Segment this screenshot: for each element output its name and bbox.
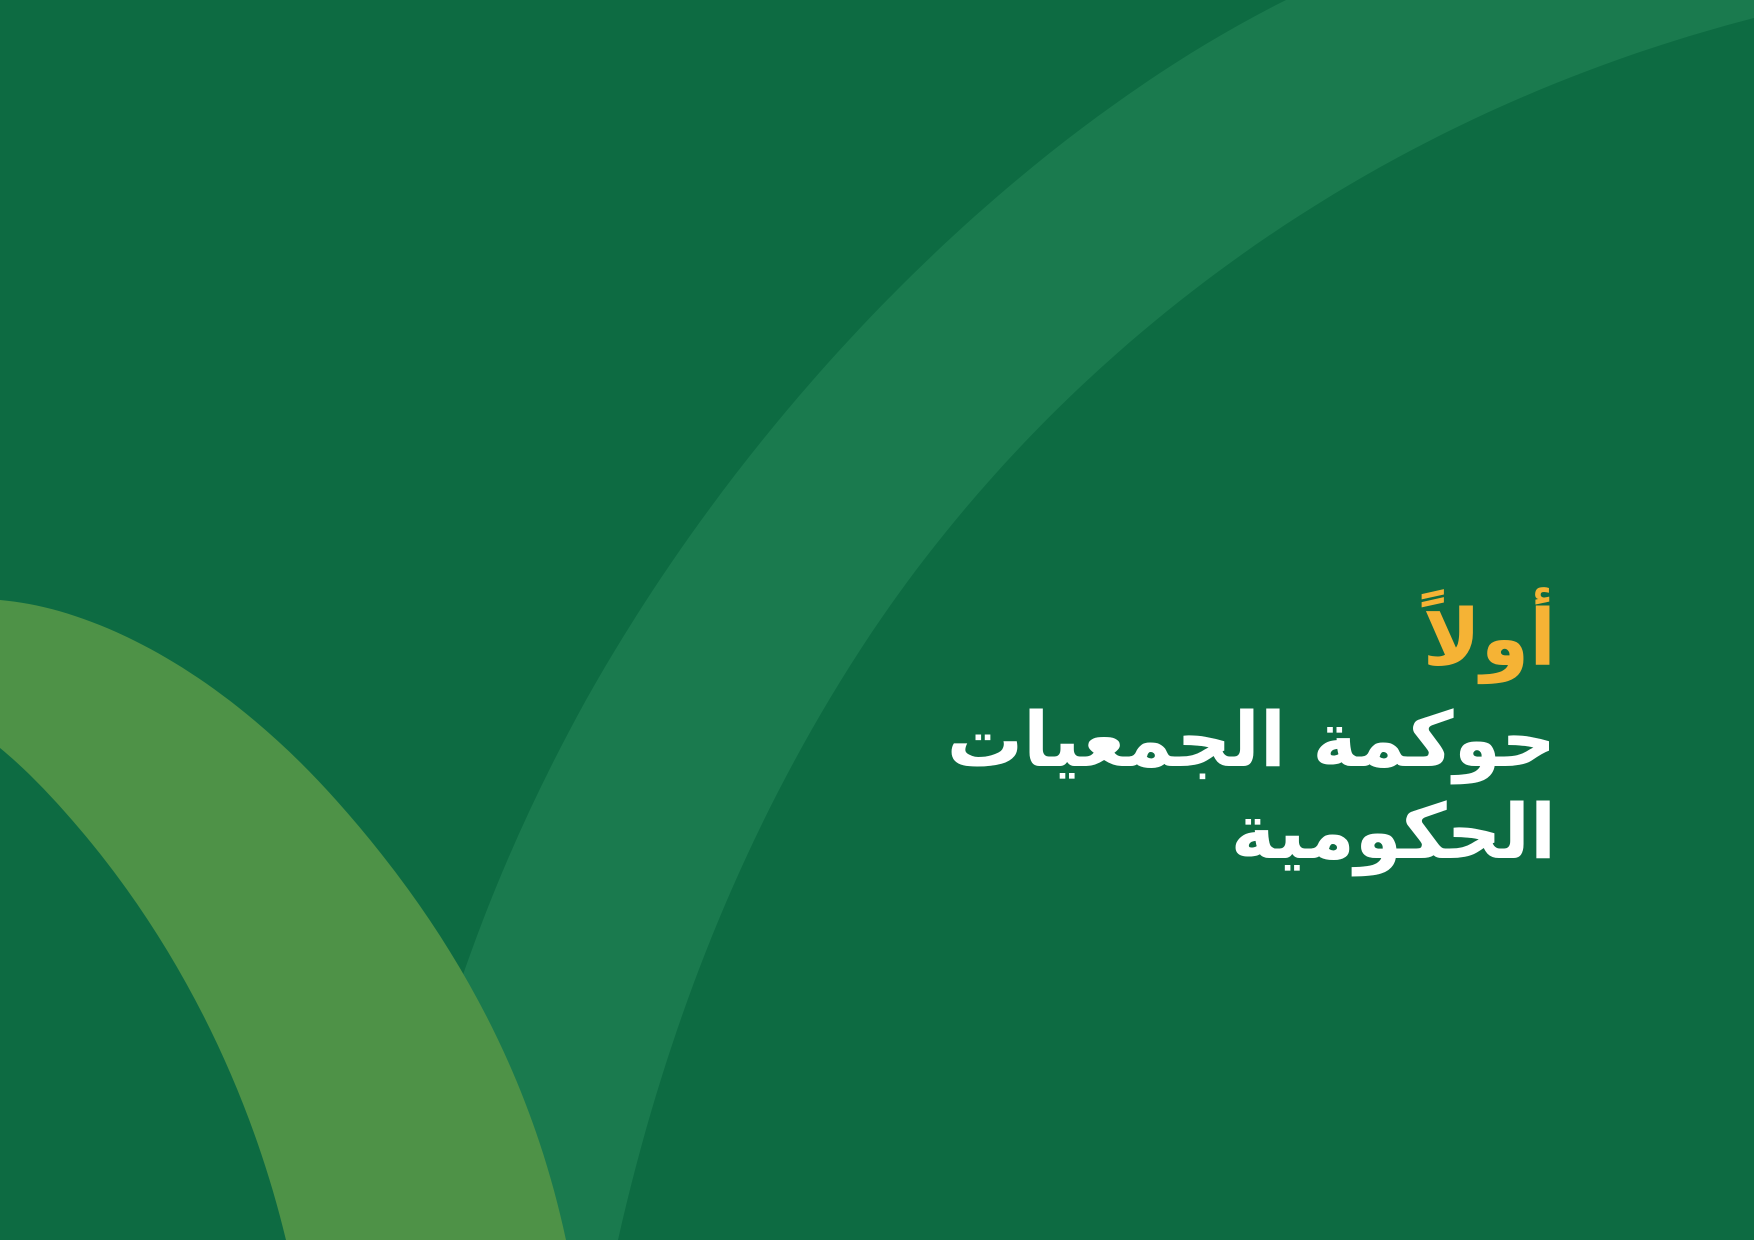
slide-canvas: أولاً حوكمة الجمعيات الحكومية bbox=[0, 0, 1754, 1240]
page-title: حوكمة الجمعيات الحكومية bbox=[656, 694, 1556, 879]
eyebrow-label: أولاً bbox=[656, 600, 1556, 680]
page-title-line-2: الحكومية bbox=[656, 786, 1556, 879]
title-block: أولاً حوكمة الجمعيات الحكومية bbox=[656, 600, 1556, 879]
page-title-line-1: حوكمة الجمعيات bbox=[656, 694, 1556, 787]
